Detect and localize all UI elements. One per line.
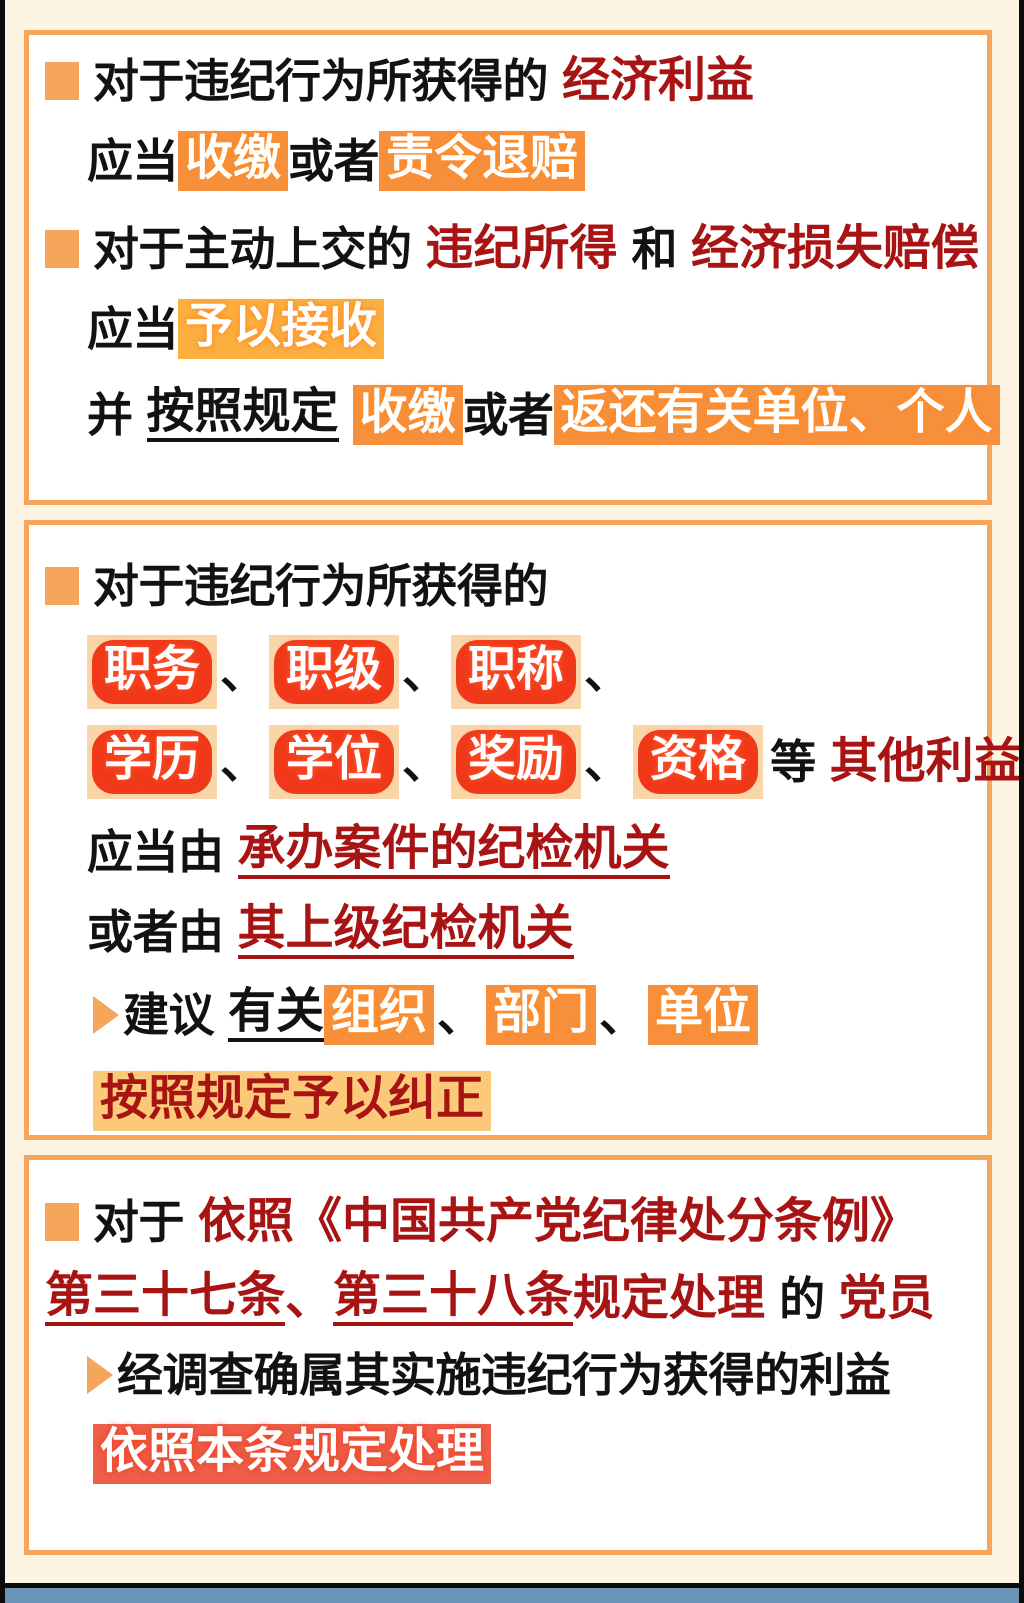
highlight-chip: 单位 — [648, 985, 758, 1045]
highlight-chip: 收缴 — [178, 131, 288, 191]
line-handling-authority-2: 或者由 其上级纪检机关 — [45, 905, 971, 959]
poster-page: 对于违纪行为所获得的 经济利益 应当 收缴 或者 责令退赔 对于主动上交的 违纪… — [0, 0, 1024, 1603]
text-plain: 的 — [779, 1276, 825, 1322]
highlight-chip: 责令退赔 — [379, 131, 585, 191]
card-economic-benefit: 对于违纪行为所获得的 经济利益 应当 收缴 或者 责令退赔 对于主动上交的 违纪… — [24, 30, 992, 505]
text-plain: 应当由 — [87, 829, 224, 875]
text-underline-red: 第三十八条 — [333, 1272, 573, 1326]
pill-chip-wrap: 奖励 — [451, 725, 581, 799]
square-bullet-icon — [45, 567, 79, 605]
highlight-chip: 收缴 — [353, 385, 463, 445]
text-plain: 并 — [87, 392, 133, 438]
text-emphasis-red: 违纪所得 — [426, 225, 618, 273]
card-list: 对于违纪行为所获得的 经济利益 应当 收缴 或者 责令退赔 对于主动上交的 违纪… — [24, 30, 992, 1570]
text-separator: 、 — [217, 739, 269, 785]
line-investigation-finding: 经调查确属其实施违纪行为获得的利益 — [45, 1352, 971, 1398]
text-separator: 、 — [217, 649, 269, 695]
text-emphasis-red: 其他利益 — [830, 738, 1022, 786]
line-other-benefits-1: 对于违纪行为所获得的 — [45, 563, 971, 609]
pill-chip: 资格 — [638, 730, 758, 794]
text-plain: 对于主动上交的 — [93, 226, 412, 272]
pill-chip: 奖励 — [456, 730, 576, 794]
triangle-bullet-icon — [93, 996, 119, 1034]
line-voluntary-surrender-2: 应当 予以接收 — [45, 299, 971, 359]
text-underline-red: 承办案件的纪检机关 — [238, 825, 670, 879]
line-voluntary-surrender-1: 对于主动上交的 违纪所得 和 经济损失赔偿 — [45, 225, 971, 273]
text-emphasis-red: 规定处理 — [573, 1275, 765, 1323]
text-plain: 对于 — [93, 1199, 184, 1245]
text-emphasis-red: 依照《中国共产党纪律处分条例》 — [198, 1198, 918, 1246]
pill-chip: 职称 — [456, 640, 576, 704]
text-separator: 、 — [399, 649, 451, 695]
line-correction: 按照规定予以纠正 — [45, 1071, 971, 1131]
square-bullet-icon — [45, 62, 79, 100]
line-economic-benefit-1: 对于违纪行为所获得的 经济利益 — [45, 57, 971, 105]
highlight-chip: 予以接收 — [178, 299, 384, 359]
text-underline-black: 有关 — [228, 988, 324, 1042]
pill-chip: 学位 — [274, 730, 394, 794]
text-plain: 对于违纪行为所获得的 — [93, 563, 548, 609]
highlight-chip: 依照本条规定处理 — [93, 1424, 491, 1484]
square-bullet-icon — [45, 230, 79, 268]
line-economic-benefit-2: 应当 收缴 或者 责令退赔 — [45, 131, 971, 191]
bottom-bar — [5, 1583, 1024, 1603]
line-qualification-pills: 学历 、 学位 、 奖励 、 资格 等 其他利益 — [45, 725, 971, 799]
line-disposition: 依照本条规定处理 — [45, 1424, 971, 1484]
pill-chip-wrap: 职称 — [451, 635, 581, 709]
text-underline-red: 其上级纪检机关 — [238, 905, 574, 959]
pill-chip-wrap: 学历 — [87, 725, 217, 799]
card-other-benefits: 对于违纪行为所获得的 职务 、 职级 、 职称 、 学历 、 学位 、 奖励 、… — [24, 520, 992, 1140]
triangle-bullet-icon — [87, 1356, 113, 1394]
text-underline-red: 第三十七条 — [45, 1272, 285, 1326]
line-recommendation: 建议 有关 组织 、 部门 、 单位 — [45, 985, 971, 1045]
line-regulation-reference-2: 第三十七条 、 第三十八条 规定处理 的 党员 — [45, 1272, 971, 1326]
line-position-pills: 职务 、 职级 、 职称 、 — [45, 635, 971, 709]
text-underline-black: 按照规定 — [147, 388, 339, 442]
text-separator: 、 — [399, 739, 451, 785]
text-emphasis-red: 党员 — [839, 1275, 935, 1323]
pill-chip-wrap: 职务 — [87, 635, 217, 709]
highlight-chip: 按照规定予以纠正 — [93, 1071, 491, 1131]
text-plain: 对于违纪行为所获得的 — [93, 58, 548, 104]
line-handling-authority-1: 应当由 承办案件的纪检机关 — [45, 825, 971, 879]
text-plain: 或者由 — [87, 909, 224, 955]
text-plain: 应当 — [87, 138, 178, 184]
text-plain: 建议 — [123, 992, 214, 1038]
pill-chip-wrap: 职级 — [269, 635, 399, 709]
text-plain: 等 — [770, 739, 816, 785]
text-bold-black: 经调查确属其实施违纪行为获得的利益 — [117, 1352, 891, 1398]
text-plain: 或者 — [288, 138, 379, 184]
line-regulation-reference-1: 对于 依照《中国共产党纪律处分条例》 — [45, 1198, 971, 1246]
text-emphasis-red: 经济损失赔偿 — [691, 225, 979, 273]
card-party-member: 对于 依照《中国共产党纪律处分条例》 第三十七条 、 第三十八条 规定处理 的 … — [24, 1155, 992, 1555]
text-plain: 或者 — [463, 392, 554, 438]
highlight-chip: 部门 — [486, 985, 596, 1045]
pill-chip: 职务 — [92, 640, 212, 704]
text-separator: 、 — [581, 739, 633, 785]
line-voluntary-surrender-3: 并 按照规定 收缴 或者 返还有关单位、个人 — [45, 385, 971, 445]
pill-chip-wrap: 资格 — [633, 725, 763, 799]
pill-chip: 职级 — [274, 640, 394, 704]
text-plain: 应当 — [87, 306, 178, 352]
pill-chip-wrap: 学位 — [269, 725, 399, 799]
pill-chip: 学历 — [92, 730, 212, 794]
text-plain: 和 — [632, 226, 678, 272]
text-separator: 、 — [581, 649, 633, 695]
highlight-chip: 组织 — [324, 985, 434, 1045]
text-separator: 、 — [434, 992, 486, 1038]
square-bullet-icon — [45, 1203, 79, 1241]
text-emphasis-red: 经济利益 — [562, 57, 754, 105]
text-separator: 、 — [596, 992, 648, 1038]
highlight-chip: 返还有关单位、个人 — [554, 385, 1000, 445]
text-separator-red: 、 — [285, 1275, 333, 1323]
